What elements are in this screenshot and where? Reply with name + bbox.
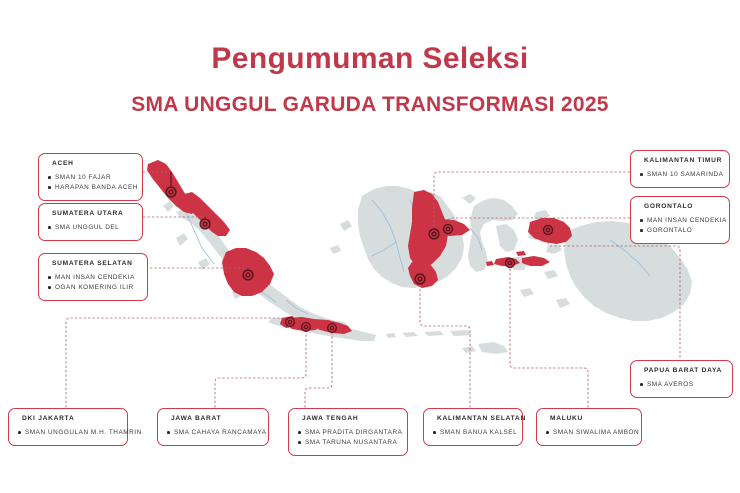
- callout-gorontalo[interactable]: GORONTALO MAN INSAN CENDEKIA GORONTALO: [630, 196, 730, 244]
- callout-school-list: SMAN SIWALIMA AMBON: [546, 428, 633, 438]
- list-item-cont: HARAPAN BANDA ACEH: [48, 183, 134, 193]
- marker-papua-barat-daya: [543, 225, 553, 235]
- list-item: SMAN 10 SAMARINDA: [640, 170, 721, 180]
- list-item: SMAN SIWALIMA AMBON: [546, 428, 633, 438]
- callout-school-list: SMAN 10 SAMARINDA: [640, 170, 721, 180]
- connector-dki-jakarta: [66, 318, 290, 412]
- list-item: SMA TARUNA NUSANTARA: [298, 438, 399, 448]
- school-line-2: OGAN KOMERING ILIR: [55, 284, 134, 291]
- list-item: SMAN UNGGULAN M.H. THAMRIN: [18, 428, 119, 438]
- callout-sumatera-selatan[interactable]: SUMATERA SELATAN MAN INSAN CENDEKIA OGAN…: [38, 253, 148, 301]
- callout-province-label: SUMATERA SELATAN: [48, 260, 139, 267]
- callout-kalimantan-selatan[interactable]: KALIMANTAN SELATAN SMAN BANUA KALSEL: [423, 408, 523, 446]
- callout-province-label: MALUKU: [546, 415, 633, 422]
- callout-school-list: SMAN BANUA KALSEL: [433, 428, 514, 438]
- marker-kalimantan-selatan: [414, 273, 425, 284]
- school-line-2: HARAPAN BANDA ACEH: [55, 184, 138, 191]
- callout-province-label: ACEH: [48, 160, 134, 167]
- list-item: SMA CAHAYA RANCAMAYA: [167, 428, 260, 438]
- connector-jawa-barat: [215, 330, 306, 412]
- callout-papua-barat-daya[interactable]: PAPUA BARAT DAYA SMA AVEROS: [630, 360, 733, 398]
- callout-province-label: JAWA TENGAH: [298, 415, 399, 422]
- callout-province-label: GORONTALO: [640, 203, 721, 210]
- callout-sumatera-utara[interactable]: SUMATERA UTARA SMA UNGGUL DEL: [38, 203, 143, 241]
- callout-province-label: JAWA BARAT: [167, 415, 260, 422]
- callout-school-list: MAN INSAN CENDEKIA OGAN KOMERING ILIR: [48, 273, 139, 293]
- connector-jawa-tengah: [305, 332, 332, 412]
- list-item: SMA AVEROS: [640, 380, 724, 390]
- callout-province-label: DKI JAKARTA: [18, 415, 119, 422]
- marker-gorontalo: [443, 224, 453, 234]
- callout-school-list: SMA CAHAYA RANCAMAYA: [167, 428, 260, 438]
- list-item: SMA PRADITA DIRGANTARA: [298, 428, 399, 438]
- list-item: MAN INSAN CENDEKIA: [48, 273, 139, 283]
- connector-kalimantan-timur: [434, 172, 630, 228]
- list-item-cont: GORONTALO: [640, 226, 721, 236]
- connector-maluku: [510, 268, 588, 412]
- school-line-2: GORONTALO: [647, 227, 692, 234]
- callout-province-label: SUMATERA UTARA: [48, 210, 134, 217]
- callout-school-list: SMA UNGGUL DEL: [48, 223, 134, 233]
- list-item: MAN INSAN CENDEKIA: [640, 216, 721, 226]
- list-item: SMA UNGGUL DEL: [48, 223, 134, 233]
- callout-province-label: KALIMANTAN SELATAN: [433, 415, 514, 422]
- callout-dki-jakarta[interactable]: DKI JAKARTA SMAN UNGGULAN M.H. THAMRIN: [8, 408, 128, 446]
- list-item: SMAN BANUA KALSEL: [433, 428, 514, 438]
- callout-school-list: SMAN UNGGULAN M.H. THAMRIN: [18, 428, 119, 438]
- list-item-cont: OGAN KOMERING ILIR: [48, 283, 139, 293]
- infographic-root: Pengumuman Seleksi SMA UNGGUL GARUDA TRA…: [0, 0, 740, 493]
- marker-kalimantan-timur: [428, 228, 439, 239]
- callout-school-list: SMA PRADITA DIRGANTARA SMA TARUNA NUSANT…: [298, 428, 399, 448]
- callout-school-list: SMAN 10 FAJAR HARAPAN BANDA ACEH: [48, 173, 134, 193]
- callout-jawa-tengah[interactable]: JAWA TENGAH SMA PRADITA DIRGANTARA SMA T…: [288, 408, 408, 456]
- list-item: SMAN 10 FAJAR: [48, 173, 134, 183]
- callout-province-label: PAPUA BARAT DAYA: [640, 367, 724, 374]
- marker-maluku: [505, 258, 515, 268]
- callout-school-list: MAN INSAN CENDEKIA GORONTALO: [640, 216, 721, 236]
- callout-province-label: KALIMANTAN TIMUR: [640, 157, 721, 164]
- marker-jawa-barat: [301, 322, 311, 332]
- callout-aceh[interactable]: ACEH SMAN 10 FAJAR HARAPAN BANDA ACEH: [38, 153, 143, 201]
- callout-school-list: SMA AVEROS: [640, 380, 724, 390]
- marker-dki-jakarta: [285, 317, 295, 327]
- callout-maluku[interactable]: MALUKU SMAN SIWALIMA AMBON: [536, 408, 642, 446]
- marker-jawa-tengah: [327, 323, 337, 333]
- callout-kalimantan-timur[interactable]: KALIMANTAN TIMUR SMAN 10 SAMARINDA: [630, 150, 730, 188]
- callout-jawa-barat[interactable]: JAWA BARAT SMA CAHAYA RANCAMAYA: [157, 408, 269, 446]
